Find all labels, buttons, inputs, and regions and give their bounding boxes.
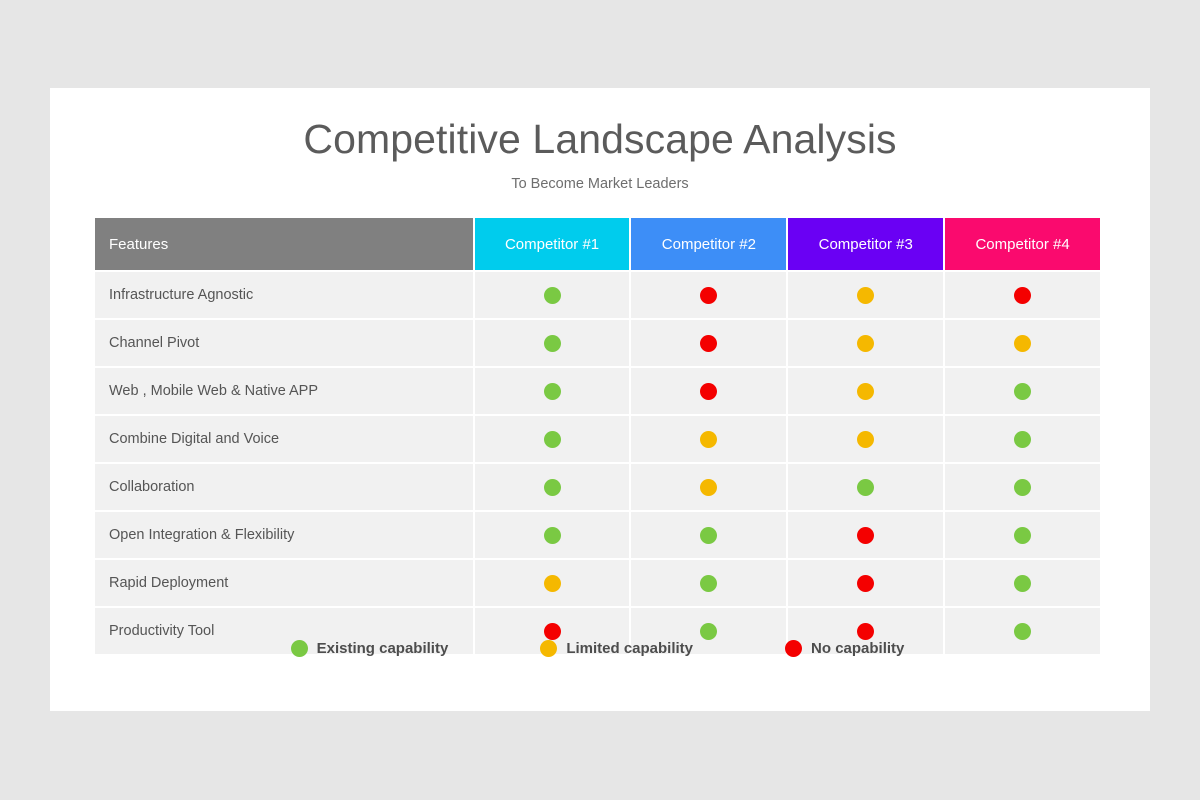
table-row: Combine Digital and Voice <box>95 416 1100 462</box>
legend-item-amber: Limited capability <box>540 640 693 657</box>
comparison-table: Features Competitor #1 Competitor #2 Com… <box>95 218 1100 656</box>
column-header-label: Competitor #1 <box>505 236 599 253</box>
table-row: Infrastructure Agnostic <box>95 272 1100 318</box>
slide-card: Competitive Landscape Analysis To Become… <box>50 88 1150 711</box>
feature-label: Web , Mobile Web & Native APP <box>95 368 473 414</box>
green-status-dot-icon <box>544 527 561 544</box>
amber-status-dot-icon <box>857 431 874 448</box>
column-header-label: Competitor #2 <box>662 236 756 253</box>
capability-cell <box>788 272 943 318</box>
green-status-dot-icon <box>700 623 717 640</box>
column-header-competitor-4: Competitor #4 <box>945 218 1100 270</box>
capability-cell <box>945 512 1100 558</box>
green-status-dot-icon <box>544 383 561 400</box>
green-status-dot-icon <box>544 335 561 352</box>
amber-status-dot-icon <box>857 335 874 352</box>
table-row: Channel Pivot <box>95 320 1100 366</box>
green-status-dot-icon <box>544 431 561 448</box>
column-header-competitor-2: Competitor #2 <box>631 218 786 270</box>
green-status-dot-icon <box>700 527 717 544</box>
capability-cell <box>475 560 630 606</box>
amber-status-dot-icon <box>857 383 874 400</box>
red-status-dot-icon <box>857 527 874 544</box>
capability-cell <box>945 368 1100 414</box>
capability-cell <box>788 464 943 510</box>
red-status-dot-icon <box>857 623 874 640</box>
feature-label: Combine Digital and Voice <box>95 416 473 462</box>
red-status-dot-icon <box>857 575 874 592</box>
column-header-competitor-1: Competitor #1 <box>475 218 630 270</box>
page-subtitle: To Become Market Leaders <box>50 176 1150 192</box>
amber-status-dot-icon <box>700 479 717 496</box>
capability-cell <box>788 416 943 462</box>
capability-cell <box>788 560 943 606</box>
capability-cell <box>475 272 630 318</box>
green-status-dot-icon <box>291 640 308 657</box>
legend-item-red: No capability <box>785 640 904 657</box>
capability-cell <box>475 416 630 462</box>
feature-label: Channel Pivot <box>95 320 473 366</box>
red-status-dot-icon <box>544 623 561 640</box>
capability-cell <box>631 416 786 462</box>
capability-cell <box>788 368 943 414</box>
feature-label: Collaboration <box>95 464 473 510</box>
table-row: Rapid Deployment <box>95 560 1100 606</box>
table-row: Collaboration <box>95 464 1100 510</box>
table-body: Infrastructure AgnosticChannel PivotWeb … <box>95 272 1100 654</box>
capability-cell <box>475 512 630 558</box>
amber-status-dot-icon <box>1014 335 1031 352</box>
capability-cell <box>945 416 1100 462</box>
column-header-features: Features <box>95 218 473 270</box>
capability-cell <box>631 320 786 366</box>
capability-cell <box>631 560 786 606</box>
capability-cell <box>631 512 786 558</box>
amber-status-dot-icon <box>700 431 717 448</box>
capability-cell <box>788 320 943 366</box>
table-row: Web , Mobile Web & Native APP <box>95 368 1100 414</box>
legend-label: Limited capability <box>566 640 693 657</box>
capability-cell <box>788 512 943 558</box>
capability-cell <box>945 320 1100 366</box>
amber-status-dot-icon <box>540 640 557 657</box>
column-header-label: Features <box>109 236 168 253</box>
capability-cell <box>475 368 630 414</box>
legend-label: Existing capability <box>317 640 449 657</box>
capability-cell <box>631 272 786 318</box>
red-status-dot-icon <box>700 383 717 400</box>
green-status-dot-icon <box>1014 623 1031 640</box>
capability-cell <box>631 368 786 414</box>
red-status-dot-icon <box>700 287 717 304</box>
feature-label: Infrastructure Agnostic <box>95 272 473 318</box>
red-status-dot-icon <box>700 335 717 352</box>
red-status-dot-icon <box>1014 287 1031 304</box>
page-title: Competitive Landscape Analysis <box>50 116 1150 163</box>
table-header-row: Features Competitor #1 Competitor #2 Com… <box>95 218 1100 270</box>
legend-label: No capability <box>811 640 904 657</box>
amber-status-dot-icon <box>544 575 561 592</box>
red-status-dot-icon <box>785 640 802 657</box>
legend: Existing capabilityLimited capabilityNo … <box>95 640 1100 657</box>
green-status-dot-icon <box>544 479 561 496</box>
table-row: Open Integration & Flexibility <box>95 512 1100 558</box>
green-status-dot-icon <box>1014 431 1031 448</box>
green-status-dot-icon <box>700 575 717 592</box>
feature-label: Rapid Deployment <box>95 560 473 606</box>
green-status-dot-icon <box>1014 479 1031 496</box>
column-header-label: Competitor #3 <box>819 236 913 253</box>
feature-label: Open Integration & Flexibility <box>95 512 473 558</box>
amber-status-dot-icon <box>857 287 874 304</box>
legend-item-green: Existing capability <box>291 640 449 657</box>
green-status-dot-icon <box>1014 383 1031 400</box>
column-header-label: Competitor #4 <box>975 236 1069 253</box>
capability-cell <box>945 464 1100 510</box>
capability-cell <box>945 560 1100 606</box>
green-status-dot-icon <box>857 479 874 496</box>
capability-cell <box>475 464 630 510</box>
capability-cell <box>945 272 1100 318</box>
column-header-competitor-3: Competitor #3 <box>788 218 943 270</box>
green-status-dot-icon <box>1014 575 1031 592</box>
green-status-dot-icon <box>1014 527 1031 544</box>
green-status-dot-icon <box>544 287 561 304</box>
capability-cell <box>631 464 786 510</box>
capability-cell <box>475 320 630 366</box>
